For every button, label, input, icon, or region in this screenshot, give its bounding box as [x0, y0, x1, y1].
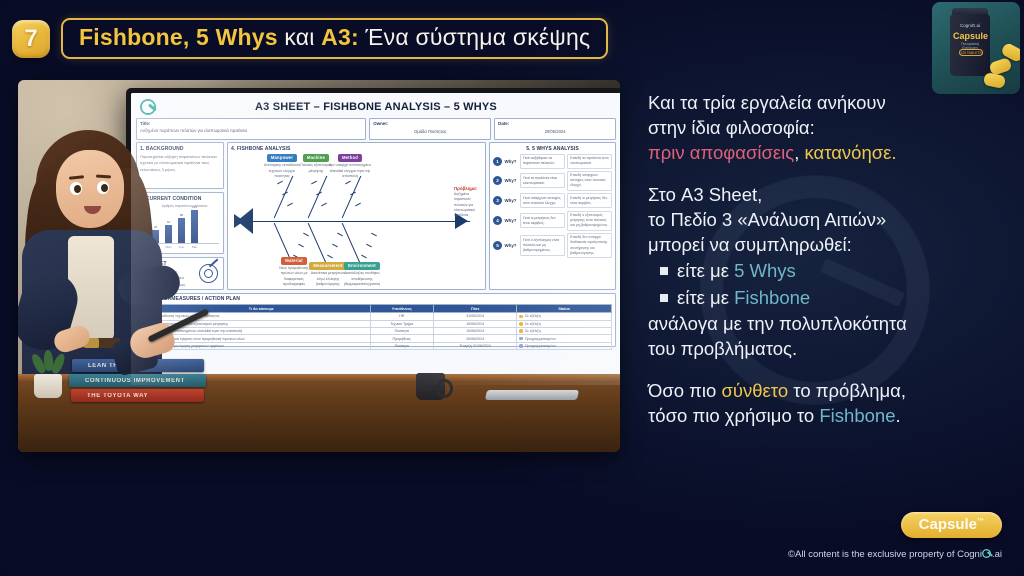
why-answer: Επειδή ο εξοπλισμός μέτρησης είναι παλαι…	[567, 211, 612, 231]
panel-fishbone: 4. FISHBONE ANALYSIS ManpowerΑνεπαρκής ε…	[227, 142, 486, 290]
a3-body: 1. BACKGROUND Παρατηρείται αύξηση παραπό…	[136, 142, 616, 290]
fishbone-category-tag: Method	[338, 154, 362, 162]
chart-bar: 115Μάι	[191, 210, 198, 243]
fishbone-category-tag: Environment	[344, 262, 380, 270]
presenter-face	[56, 150, 124, 228]
why-number: 2	[493, 176, 502, 185]
presentation-photo: A3 SHEET – FISHBONE ANALYSIS – 5 WHYS Ti…	[18, 80, 620, 452]
why-question: Γιατί οι μετρήσεις δεν είναι ακριβείς;	[520, 213, 565, 228]
a3-title-value: Αυξημένα παράπονα πελατών για ελαττωματι…	[140, 128, 362, 133]
fishbone-sub-bone	[311, 181, 317, 185]
title-part-latin: Fishbone, 5 Whys	[79, 24, 284, 50]
highlight-fishbone: Fishbone	[819, 405, 895, 426]
bottle-count: 120 TABLETS	[959, 49, 983, 56]
status-badge: Σε εξέλιξη	[525, 322, 541, 326]
title-part-kai: και	[284, 24, 321, 50]
why-row: 1Why?Γιατί αυξήθηκαν τα παράπονα πελατών…	[493, 154, 612, 169]
fishbone-sub-bone	[355, 203, 361, 207]
status-dot-icon	[519, 344, 523, 348]
table-header-row: Τι θα κάνουμεΥπεύθυνοςΠότεStatus	[141, 305, 612, 313]
row-owner: Ποιότητα	[370, 342, 434, 349]
fishbone-sub-bone	[345, 181, 351, 185]
fishbone-problem: Πρόβλημα: Αυξημένα παράπονα πελατών για …	[454, 186, 481, 218]
product-image: CogniG.ai Capsule Πνευματική Ενίσχυση 12…	[932, 2, 1020, 94]
fishbone-sub-bone	[277, 181, 283, 185]
paragraph5-suffix: .	[895, 405, 900, 426]
bottle-product-name: Capsule	[953, 31, 987, 41]
fish-mouth-icon	[234, 214, 244, 228]
slide-root: 7 Fishbone, 5 Whys και A3: Ένα σύστημα σ…	[0, 0, 1024, 576]
fishbone-sub-bone	[366, 244, 372, 248]
why-answer: Επειδή τα προϊόντα είναι ελαττωματικά.	[567, 154, 612, 169]
fishbone-sub-bone	[303, 233, 309, 237]
paragraph1-line3: πριν αποφασίσεις, κατανόησε.	[648, 140, 1004, 165]
countermeasures-table: Τι θα κάνουμεΥπεύθυνοςΠότεStatus ✓Εκπαίδ…	[140, 304, 612, 350]
supplement-bottle: CogniG.ai Capsule Πνευματική Ενίσχυση 12…	[950, 14, 990, 76]
chart-bar-value: 88	[180, 213, 183, 217]
why-answer: Επειδή οι μετρήσεις δεν είναι ακριβείς.	[567, 193, 612, 208]
table-header-cell: Υπεύθυνος	[370, 305, 434, 313]
book-title: THE TOYOTA WAY	[71, 393, 148, 399]
tv-screen: A3 SHEET – FISHBONE ANALYSIS – 5 WHYS Ti…	[126, 88, 620, 390]
a3-title-label: Title:	[140, 121, 362, 126]
highlight-syntheto: σύνθετο	[721, 380, 788, 401]
presenter-brow-right	[96, 174, 111, 178]
a3-right-column: 5. 5 WHYS ANALYSIS 1Why?Γιατί αυξήθηκαν …	[489, 142, 616, 290]
slide-number-badge: 7	[12, 20, 50, 58]
bullet1-prefix: είτε με	[677, 260, 734, 281]
fishbone-sub-bone	[371, 233, 377, 237]
paragraph4-prefix: Όσο πιο	[648, 380, 721, 401]
fishbone-problem-label: Πρόβλημα:	[454, 186, 481, 191]
laptop	[485, 390, 579, 400]
bullet1-accent: 5 Whys	[734, 260, 796, 281]
bottle-name-text: Capsule	[953, 31, 988, 41]
status-dot-icon	[519, 322, 523, 326]
fishbone-spine	[249, 221, 470, 223]
row-status: Προγραμματισμένο	[517, 342, 612, 349]
title-part-a3: A3:	[321, 24, 365, 50]
fishbone-rib	[342, 222, 362, 265]
capsule-badge-tm: ™	[977, 518, 984, 525]
paragraph5: τόσο πιο χρήσιμο το Fishbone.	[648, 403, 1004, 428]
copyright-suffix: .ai	[992, 549, 1002, 560]
fishbone-category: MethodΔεν υπάρχει τυποποιημένο checklist…	[329, 154, 371, 179]
table-header-cell: Status	[517, 305, 612, 313]
fishbone-category-tag: Manpower	[267, 154, 297, 162]
row-when: 31/05/2024	[434, 313, 517, 320]
row-action: Εισαγωγή τυποποιημένου checklist πριν τη…	[153, 327, 371, 334]
capsule-badge[interactable]: Capsule™	[901, 512, 1002, 538]
chart-bar: 88Απρ	[178, 218, 185, 243]
row-status: Προγραμματισμένο	[517, 335, 612, 342]
paragraph2-line3: μπορεί να συμπληρωθεί:	[648, 232, 1004, 257]
bullet-square-icon	[660, 294, 668, 302]
panel-countermeasures: 6. COUNTERMEASURES / ACTION PLAN Τι θα κ…	[136, 293, 616, 347]
a3-date-value: 20/05/2024	[498, 128, 612, 134]
book-title: CONTINUOUS IMPROVEMENT	[69, 378, 185, 384]
fishbone-rib	[274, 176, 294, 219]
table-row: ✓Τακτική βαθμονόμηση μετρητικών οργάνωνΠ…	[141, 342, 612, 349]
target-icon	[199, 264, 218, 283]
pill-icon	[983, 72, 1006, 89]
panel-fishbone-heading: 4. FISHBONE ANALYSIS	[231, 146, 482, 152]
title-part-rest: Ένα σύστημα σκέψης	[365, 24, 590, 50]
fishbone-rib	[342, 176, 362, 219]
paragraph-gap	[648, 165, 1004, 182]
panel-five-whys-heading: 5. 5 WHYS ANALYSIS	[493, 146, 612, 152]
paragraph2-line1: Στο A3 Sheet,	[648, 182, 1004, 207]
table-header-cell: Πότε	[434, 305, 517, 313]
presenter-eye-left	[70, 182, 82, 195]
fishbone-category-text: Ακατάλληλες συνθήκες αποθήκευσης (θερμοκ…	[341, 271, 383, 287]
fishbone-category-text: Δεν υπάρχει τυποποιημένο checklist ελέγχ…	[329, 163, 371, 179]
panel-countermeasures-heading: 6. COUNTERMEASURES / ACTION PLAN	[140, 296, 612, 302]
status-badge: Προγραμματισμένο	[525, 337, 556, 341]
bottle-brand: CogniG.ai	[953, 23, 987, 28]
a3-date-field: Date: 20/05/2024	[494, 118, 616, 140]
fishbone-sub-bone	[321, 203, 327, 207]
plant-leaf	[50, 352, 67, 375]
paragraph2-line2: το Πεδίο 3 «Ανάλυση Αιτιών»	[648, 207, 1004, 232]
row-when: 15/06/2024	[434, 320, 517, 327]
why-question: Γιατί τα προϊόντα είναι ελαττωματικά;	[520, 173, 565, 188]
cognig-mark-icon	[982, 549, 991, 558]
why-number: 1	[493, 157, 502, 166]
status-badge: Σε εξέλιξη	[525, 329, 541, 333]
a3-date-label: Date:	[498, 121, 612, 126]
paragraph4-suffix: το πρόβλημα,	[788, 380, 906, 401]
row-status: Σε εξέλιξη	[517, 313, 612, 320]
row-action: Αξιολόγηση και έγκριση νέου προμηθευτή π…	[153, 335, 371, 342]
why-question: Γιατί ο εξοπλισμός είναι παλαιός και μη …	[520, 235, 565, 255]
bullet2-text: είτε με Fishbone	[677, 284, 810, 311]
a3-title: A3 SHEET – FISHBONE ANALYSIS – 5 WHYS	[255, 101, 497, 113]
explanation-panel: Και τα τρία εργαλεία ανήκουν στην ίδια φ…	[648, 90, 1004, 428]
why-label: Why?	[505, 198, 518, 203]
status-dot-icon	[519, 337, 523, 341]
bullet-item-fishbone: είτε με Fishbone	[648, 284, 1004, 311]
book: THE TOYOTA WAY	[71, 389, 204, 402]
chart-bar-category: Μάι	[192, 245, 197, 249]
table-row: ✓Αξιολόγηση και έγκριση νέου προμηθευτή …	[141, 335, 612, 342]
cognig-logo-icon	[140, 99, 156, 115]
coffee-mug	[416, 373, 445, 400]
bullet2-prefix: είτε με	[677, 287, 734, 308]
row-action: Τακτική βαθμονόμηση μετρητικών οργάνων	[153, 342, 371, 349]
why-label: Why?	[505, 159, 518, 164]
tv-display: A3 SHEET – FISHBONE ANALYSIS – 5 WHYS Ti…	[131, 93, 620, 385]
bullet2-accent: Fishbone	[734, 287, 810, 308]
fishbone-rib	[308, 176, 328, 219]
status-dot-icon	[519, 315, 523, 319]
a3-owner-value: Ομάδα Ποιότητας	[373, 128, 487, 134]
plant-pot	[34, 374, 62, 398]
a3-middle-column: 4. FISHBONE ANALYSIS ManpowerΑνεπαρκής ε…	[227, 142, 486, 290]
row-status: Σε εξέλιξη	[517, 320, 612, 327]
a3-header: A3 SHEET – FISHBONE ANALYSIS – 5 WHYS	[136, 97, 616, 117]
why-row: 3Why?Γιατί υπάρχουν αστοχίες στον ποιοτι…	[493, 193, 612, 208]
slide-title-box: Fishbone, 5 Whys και A3: Ένα σύστημα σκέ…	[61, 18, 608, 59]
why-number: 4	[493, 216, 502, 225]
why-number: 3	[493, 196, 502, 205]
highlight-katanoise: κατανόησε.	[804, 142, 896, 163]
row-owner: Τεχνικό Τμήμα	[370, 320, 434, 327]
capsule-badge-label: Capsule	[919, 516, 977, 533]
row-owner: Προμήθειες	[370, 335, 434, 342]
bullet1-text: είτε με 5 Whys	[677, 257, 796, 284]
status-dot-icon	[519, 329, 523, 333]
table-row: ✓Αντικατάσταση παλαιού εξοπλισμού μέτρησ…	[141, 320, 612, 327]
fishbone-sub-bone	[361, 255, 367, 259]
why-row: 2Why?Γιατί τα προϊόντα είναι ελαττωματικ…	[493, 171, 612, 191]
copyright-notice: ©All content is the exclusive property o…	[788, 549, 1002, 560]
paragraph1-line2: στην ίδια φιλοσοφία:	[648, 115, 1004, 140]
row-status: Σε εξέλιξη	[517, 327, 612, 334]
bullet-square-icon	[660, 267, 668, 275]
why-label: Why?	[505, 178, 518, 183]
page-title: Fishbone, 5 Whys και A3: Ένα σύστημα σκέ…	[79, 24, 590, 51]
paragraph-gap	[648, 361, 1004, 378]
slide-header: 7 Fishbone, 5 Whys και A3: Ένα σύστημα σ…	[12, 18, 608, 59]
fishbone-sub-bone	[327, 255, 333, 259]
table-header-cell: Τι θα κάνουμε	[153, 305, 371, 313]
five-whys-list: 1Why?Γιατί αυξήθηκαν τα παράπονα πελατών…	[493, 154, 612, 259]
a3-owner-field: Owner: Ομάδα Ποιότητας	[369, 118, 491, 140]
bullet-item-5whys: είτε με 5 Whys	[648, 257, 1004, 284]
countermeasures-table-head: Τι θα κάνουμεΥπεύθυνοςΠότεStatus	[141, 305, 612, 313]
a3-meta-row: Title: Αυξημένα παράπονα πελατών για ελα…	[136, 118, 616, 140]
why-question: Γιατί αυξήθηκαν τα παράπονα πελατών;	[520, 154, 565, 169]
a3-owner-label: Owner:	[373, 121, 487, 126]
why-row: 4Why?Γιατί οι μετρήσεις δεν είναι ακριβε…	[493, 211, 612, 231]
why-question: Γιατί υπάρχουν αστοχίες στον ποιοτικό έλ…	[520, 193, 565, 208]
why-answer: Επειδή υπάρχουν αστοχίες στον ποιοτικό έ…	[567, 171, 612, 191]
fishbone-sub-bone	[298, 244, 304, 248]
paragraph3-line2: του προβλήματος.	[648, 336, 1004, 361]
fishbone-sub-bone	[287, 203, 293, 207]
paragraph1-sep: ,	[794, 142, 804, 163]
paragraph4: Όσο πιο σύνθετο το πρόβλημα,	[648, 378, 1004, 403]
row-when: 20/06/2024	[434, 335, 517, 342]
copyright-text: ©All content is the exclusive property o…	[788, 549, 982, 560]
countermeasures-table-body: ✓Εκπαίδευση τεχνικών ελέγχου ποιότηταςHR…	[141, 313, 612, 350]
chart-bar-category: Απρ	[179, 245, 185, 249]
fishbone-category-tag: Machine	[303, 154, 329, 162]
status-badge: Σε εξέλιξη	[525, 314, 541, 318]
presenter-brow-left	[69, 175, 84, 180]
paragraph3-line1: ανάλογα με την πολυπλοκότητα	[648, 311, 1004, 336]
status-badge: Προγραμματισμένο	[525, 344, 556, 348]
table-row: ✓Εκπαίδευση τεχνικών ελέγχου ποιότηταςHR…	[141, 313, 612, 320]
why-number: 5	[493, 241, 502, 250]
fishbone-sub-bone	[337, 233, 343, 237]
fishbone-problem-text: Αυξημένα παράπονα πελατών για ελαττωματι…	[454, 192, 481, 218]
row-owner: HR	[370, 313, 434, 320]
panel-five-whys: 5. 5 WHYS ANALYSIS 1Why?Γιατί αυξήθηκαν …	[489, 142, 616, 290]
book: CONTINUOUS IMPROVEMENT	[69, 374, 206, 387]
a3-sheet: A3 SHEET – FISHBONE ANALYSIS – 5 WHYS Ti…	[131, 93, 620, 385]
chart-bar-value: 115	[192, 205, 197, 209]
row-owner: Ποιότητα	[370, 327, 434, 334]
why-label: Why?	[505, 243, 518, 248]
paragraph5-prefix: τόσο πιο χρήσιμο το	[648, 405, 819, 426]
why-label: Why?	[505, 218, 518, 223]
row-when: 10/06/2024	[434, 327, 517, 334]
why-row: 5Why?Γιατί ο εξοπλισμός είναι παλαιός κα…	[493, 233, 612, 258]
fishbone-category-tag: Material	[281, 257, 306, 265]
presenter-eye-right	[97, 181, 109, 194]
highlight-prin-apofasiseis: πριν αποφασίσεις	[648, 142, 794, 163]
fishbone-sub-bone	[332, 244, 338, 248]
table-row: ✓Εισαγωγή τυποποιημένου checklist πριν τ…	[141, 327, 612, 334]
row-when: Έναρξη 01/06/2024	[434, 342, 517, 349]
why-answer: Επειδή δεν υπάρχει διαδικασία προληπτική…	[567, 233, 612, 258]
fishbone-diagram: ManpowerΑνεπαρκής εκπαίδευση τεχνικών ελ…	[231, 154, 482, 287]
fishbone-category: EnvironmentΑκατάλληλες συνθήκες αποθήκευ…	[341, 262, 383, 287]
